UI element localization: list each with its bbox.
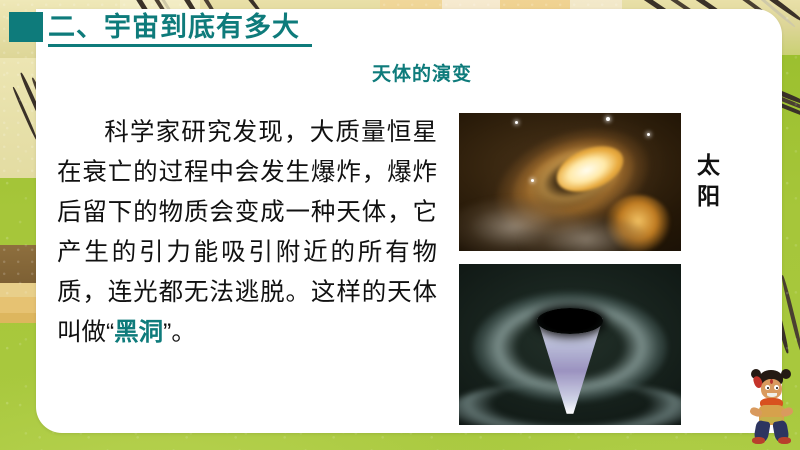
mascot-character [746, 366, 796, 444]
mascot-shoe-left-icon [752, 437, 765, 444]
body-segment-1: 科学家研究发现，大质量恒星在衰亡的过程中会发生爆炸，爆炸后留下的物质会变成一种天… [57, 119, 437, 346]
galaxy-image [459, 113, 681, 251]
body-segment-2: ”。 [163, 319, 196, 346]
section-subtitle: 天体的演变 [0, 59, 800, 86]
mascot-mouth-icon [767, 393, 777, 397]
slide-root: 二、宇宙到底有多大 天体的演变 科学家研究发现，大质量恒星在衰亡的过程中会发生爆… [0, 0, 800, 450]
mascot-shoe-right-icon [778, 437, 791, 444]
mascot-pupil-right-icon [776, 387, 779, 390]
body-paragraph: 科学家研究发现，大质量恒星在衰亡的过程中会发生爆炸，爆炸后留下的物质会变成一种天… [57, 113, 437, 353]
mascot-forehead-mark-icon [770, 379, 773, 384]
mascot-bun-right-icon [781, 369, 791, 379]
image-label-sun: 太阳 [697, 150, 737, 212]
highlight-term-black-hole: 黑洞 [114, 319, 163, 346]
page-title: 二、宇宙到底有多大 [48, 11, 300, 43]
black-hole-image [459, 264, 681, 425]
title-bullet-square [9, 12, 43, 42]
mascot-pupil-left-icon [767, 387, 770, 390]
title-underline [48, 44, 312, 47]
